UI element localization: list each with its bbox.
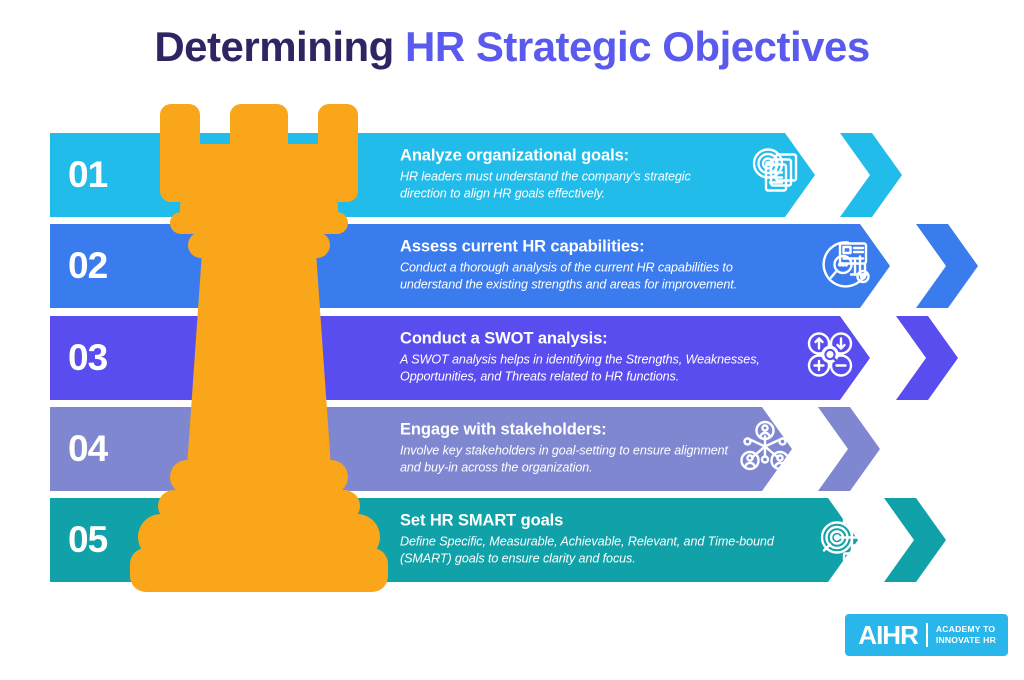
title-part-2: HR Strategic Objectives xyxy=(405,23,870,70)
logo-wordmark: AIHR xyxy=(858,622,918,648)
infographic-canvas: Determining HR Strategic Objectives 01 A… xyxy=(0,0,1024,680)
step-number: 03 xyxy=(68,337,107,379)
step-chevron-icon xyxy=(884,498,946,582)
step-heading: Set HR SMART goals xyxy=(400,512,835,531)
step-body: HR leaders must understand the company's… xyxy=(400,169,730,204)
step-number: 04 xyxy=(68,428,107,470)
step-number: 05 xyxy=(68,519,107,561)
step-heading: Conduct a SWOT analysis: xyxy=(400,330,810,349)
stakeholder-network-icon xyxy=(738,421,792,478)
target-flowchart-icon xyxy=(820,510,882,571)
step-heading: Assess current HR capabilities: xyxy=(400,238,800,257)
step-body: Involve key stakeholders in goal-setting… xyxy=(400,443,740,478)
step-body: Conduct a thorough analysis of the curre… xyxy=(400,260,790,295)
target-documents-icon xyxy=(750,145,806,206)
step-chevron-icon xyxy=(896,316,958,400)
step-number: 01 xyxy=(68,154,107,196)
chess-rook-icon xyxy=(130,104,390,594)
step-text: Engage with stakeholders: Involve key st… xyxy=(400,421,750,478)
step-chevron-icon xyxy=(840,133,902,217)
step-number: 02 xyxy=(68,245,107,287)
step-chevron-icon xyxy=(916,224,978,308)
aihr-logo: AIHR ACADEMY TO INNOVATE HR xyxy=(845,614,1008,656)
step-heading: Analyze organizational goals: xyxy=(400,147,740,166)
logo-divider xyxy=(926,623,928,647)
swot-quadrant-magnifier-icon xyxy=(802,330,858,387)
step-text: Conduct a SWOT analysis: A SWOT analysis… xyxy=(400,330,810,387)
step-body: A SWOT analysis helps in identifying the… xyxy=(400,352,800,387)
step-chevron-icon xyxy=(818,407,880,491)
magnifier-dashboard-gear-icon xyxy=(818,235,876,298)
logo-tagline: ACADEMY TO INNOVATE HR xyxy=(936,624,996,646)
logo-tagline-line-1: ACADEMY TO xyxy=(936,624,996,635)
page-title: Determining HR Strategic Objectives xyxy=(0,24,1024,70)
step-text: Analyze organizational goals: HR leaders… xyxy=(400,147,740,204)
step-body: Define Specific, Measurable, Achievable,… xyxy=(400,534,825,569)
title-part-1: Determining xyxy=(154,23,405,70)
step-heading: Engage with stakeholders: xyxy=(400,421,750,440)
logo-tagline-line-2: INNOVATE HR xyxy=(936,635,996,646)
step-text: Set HR SMART goals Define Specific, Meas… xyxy=(400,512,835,569)
step-text: Assess current HR capabilities: Conduct … xyxy=(400,238,800,295)
